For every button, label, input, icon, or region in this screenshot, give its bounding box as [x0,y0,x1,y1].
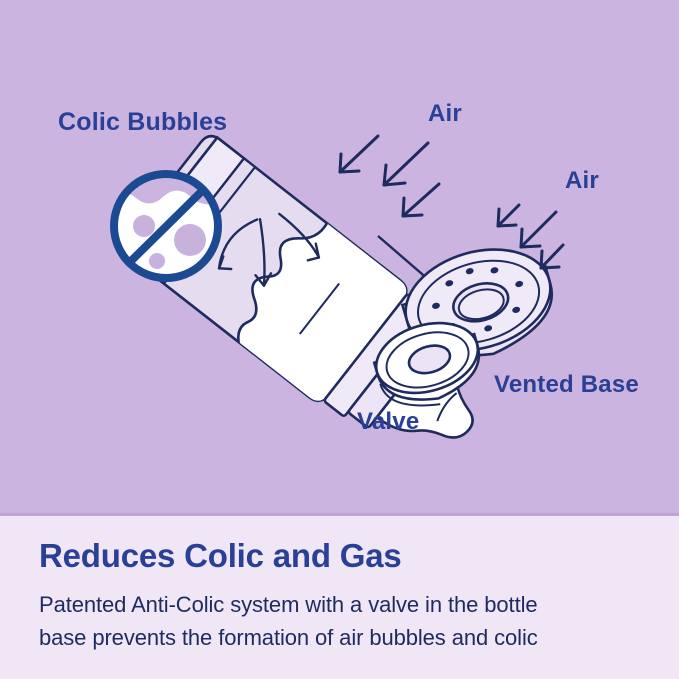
label-air-left: Air [428,100,462,128]
caption-body-line-1: Patented Anti-Colic system with a valve … [39,588,649,621]
badge-bubble-1 [133,215,155,237]
air-arrow-right-3 [541,245,563,268]
product-feature-card: Colic Bubbles Air Air Valve Vented Base … [0,0,679,679]
caption-body: Patented Anti-Colic system with a valve … [39,588,649,654]
air-arrow-left-3 [403,184,439,216]
label-vented-base: Vented Base [494,371,639,399]
air-arrows-left [340,136,439,216]
badge-bubble-2 [174,224,206,256]
air-arrow-right-2 [521,212,556,247]
label-colic-bubbles: Colic Bubbles [58,108,227,137]
air-arrow-left-1 [340,136,378,172]
air-arrow-left-2 [384,143,428,185]
diagram-panel: Colic Bubbles Air Air Valve Vented Base [0,0,679,516]
label-valve: Valve [357,408,419,436]
label-air-right: Air [565,167,599,195]
caption-body-line-2: base prevents the formation of air bubbl… [39,621,649,654]
badge-bubble-3 [149,253,165,269]
anti-colic-bottle-diagram [0,0,679,516]
air-arrow-right-1 [498,205,519,226]
caption-title: Reduces Colic and Gas [39,537,402,575]
